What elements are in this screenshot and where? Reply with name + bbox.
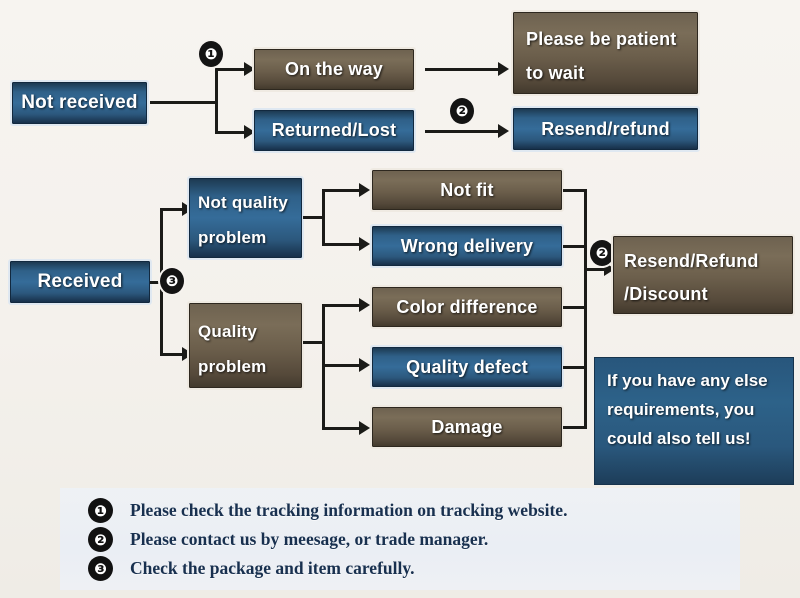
node-wrong-delivery-label: Wrong delivery: [401, 233, 534, 259]
legend-bullet-3-label: ❸: [94, 560, 107, 578]
arrowhead-to-quality-defect: [359, 358, 370, 372]
node-not-quality-problem[interactable]: Not quality problem: [189, 178, 302, 258]
marker-two-top: ❷: [450, 98, 474, 124]
arrowhead-to-not-fit: [359, 183, 370, 197]
node-resend-refund[interactable]: Resend/refund: [513, 108, 698, 150]
connector-not-quality-split: [322, 189, 325, 246]
node-not-quality-line2: problem: [190, 216, 301, 251]
node-returned-lost[interactable]: Returned/Lost: [254, 110, 414, 151]
legend-text-1: Please check the tracking information on…: [130, 500, 567, 521]
node-not-quality-line1: Not quality: [190, 191, 301, 216]
node-color-difference-label: Color difference: [396, 294, 537, 320]
node-resend-refund-discount-line2: /Discount: [614, 275, 792, 307]
legend-bullet-2-label: ❷: [94, 531, 107, 549]
legend-text-3: Check the package and item carefully.: [130, 558, 415, 579]
legend-bullet-2: ❷: [88, 527, 113, 552]
arrowhead-to-patient: [498, 62, 509, 76]
arrowhead-to-wrong-delivery: [359, 237, 370, 251]
node-received-label: Received: [37, 268, 122, 296]
node-resend-refund-discount-line1: Resend/Refund: [614, 248, 792, 274]
marker-one-top: ❶: [199, 41, 223, 67]
speech-bubble-line3: could also tell us!: [607, 424, 783, 453]
connector-to-not-fit: [322, 189, 363, 192]
node-quality-defect-label: Quality defect: [406, 354, 528, 380]
arrowhead-to-resend-refund: [498, 124, 509, 138]
marker-two-top-label: ❷: [456, 102, 469, 120]
node-please-be-patient-line2: to wait: [514, 52, 697, 86]
legend-item-1: ❶ Please check the tracking information …: [88, 496, 748, 525]
connector-merge-bus: [584, 189, 587, 429]
node-not-fit-label: Not fit: [440, 177, 493, 203]
node-not-received-label: Not received: [21, 89, 137, 117]
connector-on-the-way-to-patient: [425, 68, 501, 71]
connector-to-damage: [322, 427, 363, 430]
node-resend-refund-label: Resend/refund: [541, 116, 670, 142]
marker-two-mid-label: ❷: [596, 244, 609, 262]
legend-item-3: ❸ Check the package and item carefully.: [88, 554, 748, 583]
legend-bullet-3: ❸: [88, 556, 113, 581]
legend: ❶ Please check the tracking information …: [88, 496, 748, 583]
marker-two-mid: ❷: [590, 240, 614, 266]
marker-three-mid: ❸: [160, 268, 184, 294]
node-received[interactable]: Received: [10, 261, 150, 303]
node-wrong-delivery[interactable]: Wrong delivery: [372, 226, 562, 266]
connector-not-received-split: [215, 68, 218, 134]
speech-bubble-line2: requirements, you: [607, 395, 783, 424]
node-damage[interactable]: Damage: [372, 407, 562, 447]
arrowhead-to-damage: [359, 421, 370, 435]
flowchart-diagram: Not received ❶ On the way Returned/Lost …: [0, 0, 800, 598]
node-not-fit[interactable]: Not fit: [372, 170, 562, 210]
legend-item-2: ❷ Please contact us by meesage, or trade…: [88, 525, 748, 554]
node-please-be-patient[interactable]: Please be patient to wait: [513, 12, 698, 94]
arrowhead-to-color-difference: [359, 298, 370, 312]
marker-one-top-label: ❶: [205, 45, 218, 63]
legend-text-2: Please contact us by meesage, or trade m…: [130, 529, 488, 550]
legend-bullet-1: ❶: [88, 498, 113, 523]
connector-not-received-stem: [150, 101, 218, 104]
connector-to-color-difference: [322, 304, 363, 307]
speech-bubble-line1: If you have any else: [607, 366, 783, 395]
node-quality-problem[interactable]: Quality problem: [189, 303, 302, 388]
node-please-be-patient-line1: Please be patient: [514, 26, 697, 52]
node-not-received[interactable]: Not received: [12, 82, 147, 124]
node-returned-lost-label: Returned/Lost: [272, 117, 397, 143]
connector-to-quality-defect: [322, 364, 363, 367]
node-resend-refund-discount[interactable]: Resend/Refund /Discount: [613, 236, 793, 314]
node-color-difference[interactable]: Color difference: [372, 287, 562, 327]
marker-three-mid-label: ❸: [166, 272, 179, 290]
node-damage-label: Damage: [431, 414, 502, 440]
node-quality-line1: Quality: [190, 320, 301, 345]
speech-bubble[interactable]: If you have any else requirements, you c…: [594, 357, 794, 485]
connector-returned-to-resend: [425, 130, 501, 133]
node-on-the-way-label: On the way: [285, 56, 383, 82]
node-quality-defect[interactable]: Quality defect: [372, 347, 562, 387]
connector-to-wrong-delivery: [322, 243, 363, 246]
legend-bullet-1-label: ❶: [94, 502, 107, 520]
connector-quality-split: [322, 304, 325, 430]
node-quality-line2: problem: [190, 345, 301, 380]
node-on-the-way[interactable]: On the way: [254, 49, 414, 90]
